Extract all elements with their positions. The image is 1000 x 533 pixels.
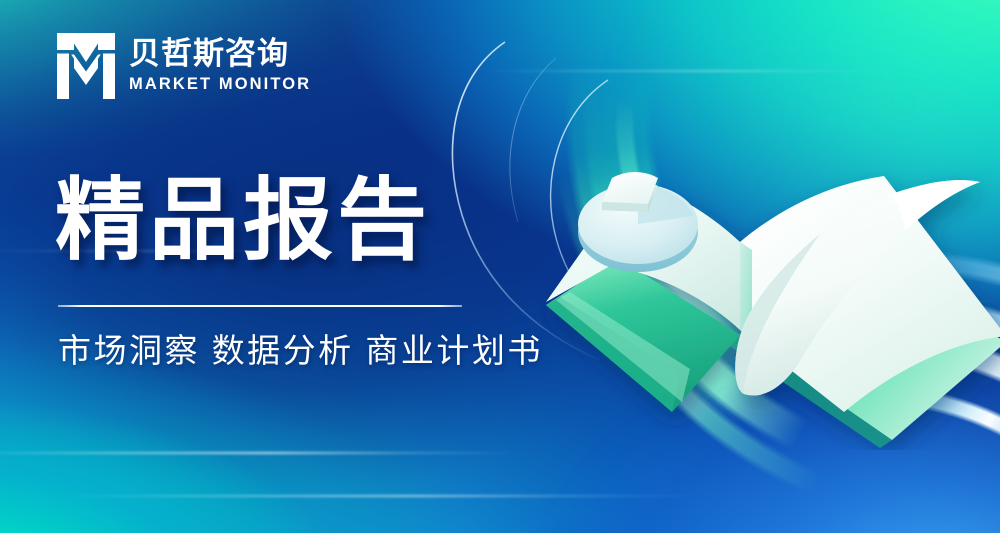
light-streak	[60, 495, 700, 497]
light-streak	[0, 452, 520, 454]
page-title: 精品报告	[55, 176, 431, 266]
pie-lifted-slice-top	[602, 172, 658, 204]
light-streak	[480, 70, 900, 72]
brand-logo[interactable]: 贝哲斯咨询 MARKET MONITOR	[57, 33, 311, 99]
book-curl-highlight	[892, 180, 980, 230]
pie-chart-disc	[578, 172, 698, 272]
premium-report-banner: 贝哲斯咨询 MARKET MONITOR 精品报告 市场洞察 数据分析 商业计划…	[0, 0, 1000, 533]
market-monitor-m-mark-icon	[57, 33, 115, 99]
brand-name-cn: 贝哲斯咨询	[129, 38, 311, 71]
brand-logo-text: 贝哲斯咨询 MARKET MONITOR	[129, 38, 311, 95]
open-book-with-pie-chart-illustration	[540, 150, 1000, 450]
brand-name-en: MARKET MONITOR	[129, 75, 311, 94]
title-divider	[58, 305, 462, 307]
page-subtitle: 市场洞察 数据分析 商业计划书	[58, 330, 543, 371]
